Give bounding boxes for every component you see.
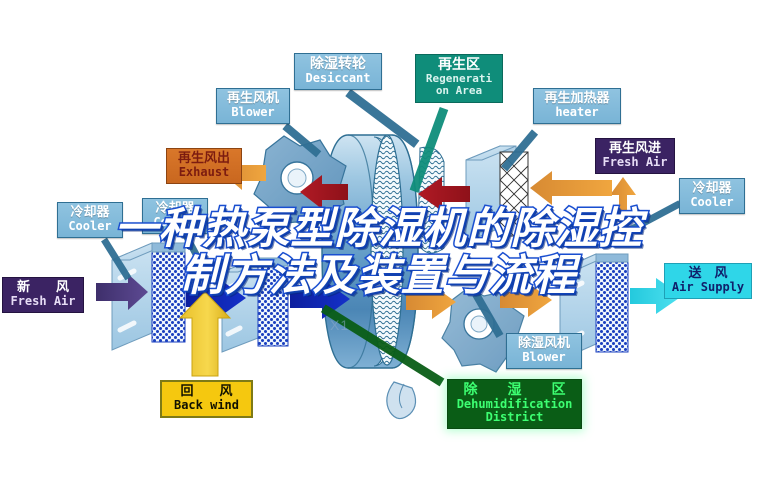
watermark-text: X1 — [330, 317, 349, 333]
label-dehumidification-blower-en: Blower — [511, 351, 577, 364]
label-back-wind[interactable]: 回 风 Back wind — [160, 380, 253, 418]
label-cooler-left-1[interactable]: 冷却器 Cooler — [57, 202, 123, 238]
label-dehumidification-district-cn: 除 湿 区 — [450, 383, 579, 398]
label-cooler-left-2-cn: 冷却器 — [147, 202, 203, 216]
label-cooler-right[interactable]: 冷却器 Cooler — [679, 178, 745, 214]
label-dehumidification-blower-cn: 除湿风机 — [511, 337, 577, 351]
label-dehumidification-district[interactable]: 除 湿 区 Dehumidification District — [447, 379, 582, 429]
label-fresh-air-in-cn: 新 风 — [7, 281, 79, 295]
label-fresh-air-in-en: Fresh Air — [7, 295, 79, 308]
label-cooler-left-1-en: Cooler — [62, 220, 118, 233]
label-cooler-left-2[interactable]: 冷却器 Cooler — [142, 198, 208, 234]
label-regeneration-blower-en: Blower — [221, 106, 285, 119]
label-desiccant-wheel[interactable]: 除湿转轮 Desiccant — [294, 53, 382, 90]
label-back-wind-en: Back wind — [166, 399, 247, 412]
label-regeneration-area-en2: on Area — [419, 85, 499, 97]
label-fresh-air-in[interactable]: 新 风 Fresh Air — [2, 277, 84, 313]
label-regeneration-heater[interactable]: 再生加热器 heater — [533, 88, 621, 124]
label-cooler-left-1-cn: 冷却器 — [62, 206, 118, 220]
label-regeneration-fresh-air-in-cn: 再生风进 — [600, 142, 670, 156]
label-cooler-left-2-en: Cooler — [147, 216, 203, 229]
label-desiccant-wheel-cn: 除湿转轮 — [299, 57, 377, 72]
label-regeneration-fresh-air-in[interactable]: 再生风进 Fresh Air — [595, 138, 675, 174]
label-regeneration-blower-cn: 再生风机 — [221, 92, 285, 106]
label-regeneration-blower[interactable]: 再生风机 Blower — [216, 88, 290, 124]
label-regeneration-area[interactable]: 再生区 Regenerati on Area — [415, 54, 503, 103]
label-regeneration-area-cn: 再生区 — [419, 58, 499, 73]
label-regeneration-fresh-air-in-en: Fresh Air — [600, 156, 670, 169]
label-back-wind-cn: 回 风 — [166, 385, 247, 399]
dehumidifier-flow-diagram: 除湿转轮 Desiccant 再生风机 Blower 再生区 Regenerat… — [0, 0, 757, 488]
label-exhaust-en: Exhaust — [171, 166, 237, 179]
regeneration-heater-block — [466, 146, 528, 242]
label-desiccant-wheel-en: Desiccant — [299, 72, 377, 85]
label-dehumidification-blower[interactable]: 除湿风机 Blower — [506, 333, 582, 369]
label-regeneration-heater-en: heater — [538, 106, 616, 119]
label-air-supply-en: Air Supply — [669, 281, 747, 294]
arrow-regen-to-heater — [530, 171, 612, 205]
label-exhaust-cn: 再生风出 — [171, 152, 237, 166]
label-cooler-right-en: Cooler — [684, 196, 740, 209]
label-dehumidification-district-en2: District — [450, 411, 579, 424]
label-cooler-right-cn: 冷却器 — [684, 182, 740, 196]
label-air-supply[interactable]: 送 风 Air Supply — [664, 263, 752, 299]
label-regeneration-heater-cn: 再生加热器 — [538, 92, 616, 106]
label-exhaust[interactable]: 再生风出 Exhaust — [166, 148, 242, 184]
label-air-supply-cn: 送 风 — [669, 267, 747, 281]
